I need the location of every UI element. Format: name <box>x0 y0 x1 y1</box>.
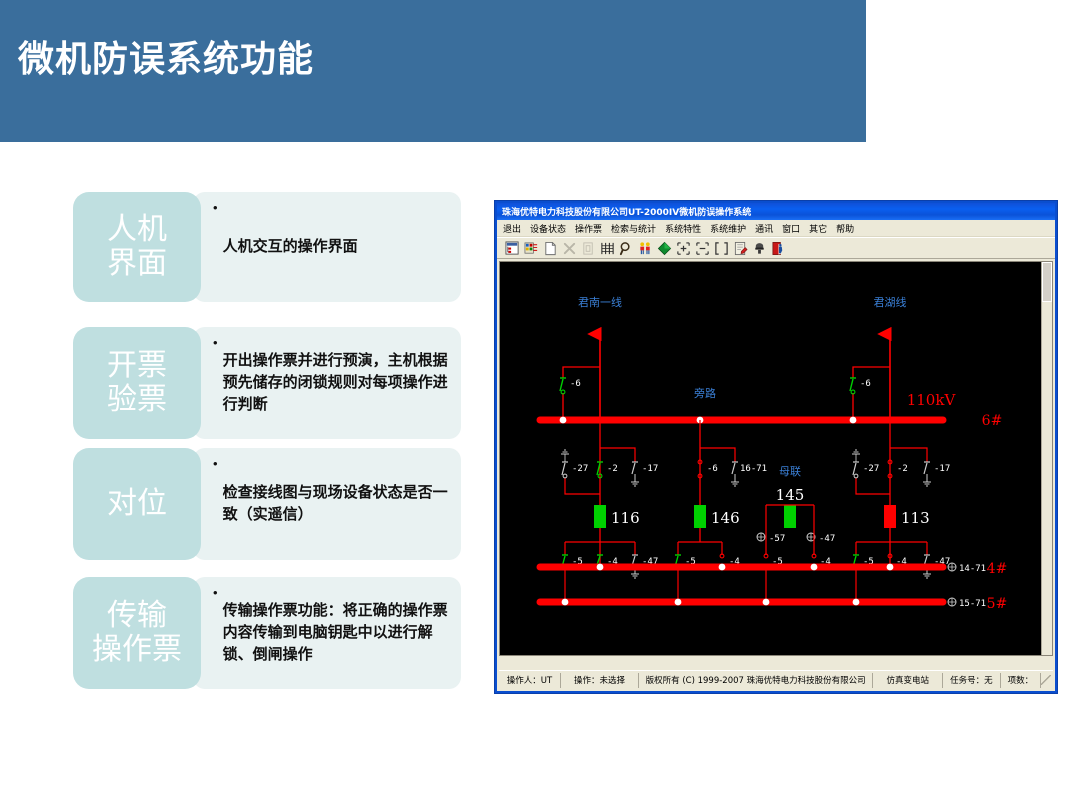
feature-row: 开票 验票 • 开出操作票并进行预演，主机根据预先储存的闭锁规则对每项操作进行判… <box>73 327 461 439</box>
breaker-label-116: 116 <box>611 509 640 527</box>
bay3-upper-tee <box>890 448 927 462</box>
menu-item-device-state[interactable]: 设备状态 <box>530 222 566 235</box>
toolbar <box>497 237 1055 259</box>
feature-key-renji-jiemian: 人机 界面 <box>73 192 201 302</box>
bullet-marker: • <box>213 583 218 603</box>
switch-label-top-right: -6 <box>860 379 871 389</box>
bay1-upper-tee-right <box>600 448 635 462</box>
bay2-bottom-tee <box>678 542 722 555</box>
ground-symbol-bay3-47 <box>923 574 931 578</box>
feature-row: 传输 操作票 • 传输操作票功能：将正确的操作票内容传输到电脑钥匙中以进行解锁、… <box>73 577 461 689</box>
ladder-icon[interactable] <box>599 240 615 256</box>
bay3-bottom-tee <box>856 542 927 555</box>
ground-symbol-bay1-17 <box>631 482 639 486</box>
switch-arm-bay1-27 <box>562 463 565 475</box>
feature-value: • 开出操作票并进行预演，主机根据预先储存的闭锁规则对每项操作进行判断 <box>193 327 461 439</box>
bay3-lower-tee-left <box>856 478 890 494</box>
menu-item-window[interactable]: 窗口 <box>782 222 800 235</box>
breaker-145 <box>784 505 796 528</box>
feature-key-line: 验票 <box>107 383 167 417</box>
tee-left-top <box>563 367 600 378</box>
bus-switch-label-5: 15-71 <box>959 599 986 609</box>
feature-text: 检查接线图与现场设备状态是否一致（实遥信） <box>223 482 451 526</box>
switch-label-tie-47: -47 <box>819 534 835 544</box>
two-person-icon[interactable] <box>637 240 653 256</box>
key-device-icon[interactable] <box>751 240 767 256</box>
window-titlebar[interactable]: 珠海优特电力科技股份有限公司UT-2000IV微机防误操作系统 <box>497 203 1055 220</box>
green-book-icon[interactable] <box>656 240 672 256</box>
search-icon[interactable] <box>618 240 634 256</box>
menu-bar: 退出 设备状态 操作票 检索与统计 系统特性 系统维护 通讯 窗口 其它 帮助 <box>497 220 1055 237</box>
feature-text: 人机交互的操作界面 <box>223 236 358 258</box>
bus-name-6: 6# <box>982 413 1003 429</box>
feature-value: • 人机交互的操作界面 <box>193 192 461 302</box>
bay2-upper-tee <box>700 448 735 462</box>
switch-label-bay3-2: -2 <box>897 464 908 474</box>
edit-note-icon[interactable] <box>732 240 748 256</box>
feature-key-line: 对位 <box>107 487 167 521</box>
feature-key-duiwei: 对位 <box>73 448 201 560</box>
feature-text: 开出操作票并进行预演，主机根据预先储存的闭锁规则对每项操作进行判断 <box>223 350 451 415</box>
bullet-marker: • <box>213 333 218 353</box>
one-line-diagram-canvas[interactable]: 君南一线 旁路 君湖线 母联 <box>499 261 1053 656</box>
status-operation: 操作：未选择 <box>561 673 639 688</box>
feature-key-chuanshu-caozuopiao: 传输 操作票 <box>73 577 201 689</box>
switch-label-bay2-1671: 16-71 <box>740 464 767 474</box>
status-item-count: 项数： <box>1001 673 1041 688</box>
switch-label-bay1-2: -2 <box>607 464 618 474</box>
bus-node <box>850 417 857 424</box>
feature-text: 传输操作票功能：将正确的操作票内容传输到电脑钥匙中以进行解锁、倒闸操作 <box>223 600 451 665</box>
station-tree-icon[interactable] <box>504 240 520 256</box>
new-ticket-icon[interactable] <box>542 240 558 256</box>
breaker-label-146: 146 <box>711 509 740 527</box>
tee-right-top <box>853 367 890 378</box>
ground-symbol-bay3-27 <box>852 450 860 454</box>
switch-arm-bay3-27 <box>853 463 856 475</box>
zoom-out-icon[interactable] <box>675 240 691 256</box>
bus-node <box>811 564 818 571</box>
voltage-level-label: 110kV <box>907 391 957 409</box>
copy-icon[interactable] <box>580 240 596 256</box>
switch-pivot-bay1-27 <box>563 474 567 478</box>
menu-item-search-stats[interactable]: 检索与统计 <box>611 222 656 235</box>
breaker-113 <box>884 505 896 528</box>
switch-arm-bay3-17 <box>924 463 927 474</box>
fit-window-icon[interactable] <box>713 240 729 256</box>
feature-key-line: 界面 <box>107 247 167 281</box>
menu-item-ticket[interactable]: 操作票 <box>575 222 602 235</box>
feature-value: • 检查接线图与现场设备状态是否一致（实遥信） <box>193 448 461 560</box>
bus-node <box>675 599 682 606</box>
bus-node <box>719 564 726 571</box>
bus-node <box>763 599 770 606</box>
bus-name-4: 4# <box>987 561 1008 577</box>
breaker-label-113: 113 <box>901 509 930 527</box>
slide-root: 微机防误系统功能 人机 界面 • 人机交互的操作界面 开票 验票 • 开出操作票… <box>0 0 1080 810</box>
breaker-116 <box>594 505 606 528</box>
bus-node <box>597 564 604 571</box>
menu-item-help[interactable]: 帮助 <box>836 222 854 235</box>
feeder-label-right: 君湖线 <box>874 295 907 309</box>
resize-grip-icon[interactable] <box>1041 675 1051 685</box>
vertical-scrollbar[interactable] <box>1041 262 1052 655</box>
menu-item-system-maint[interactable]: 系统维护 <box>710 222 746 235</box>
ground-symbol-bay2-1671 <box>731 482 739 486</box>
switch-arm-top-right <box>850 379 853 391</box>
application-window: 珠海优特电力科技股份有限公司UT-2000IV微机防误操作系统 退出 设备状态 … <box>495 201 1057 693</box>
bus-node <box>560 417 567 424</box>
feature-value: • 传输操作票功能：将正确的操作票内容传输到电脑钥匙中以进行解锁、倒闸操作 <box>193 577 461 689</box>
bus-node <box>562 599 569 606</box>
switch-label-bay3-27: -27 <box>863 464 879 474</box>
one-line-diagram[interactable]: 君南一线 旁路 君湖线 母联 <box>500 262 1045 656</box>
feature-row: 对位 • 检查接线图与现场设备状态是否一致（实遥信） <box>73 448 461 560</box>
feature-key-kaipiao-yanpiao: 开票 验票 <box>73 327 201 439</box>
switch-label-bay1-17: -17 <box>642 464 658 474</box>
exit-door-icon[interactable] <box>770 240 786 256</box>
switch-pivot-bay3-27 <box>854 474 858 478</box>
switch-label-bay3-17: -17 <box>934 464 950 474</box>
menu-item-system-props[interactable]: 系统特性 <box>665 222 701 235</box>
delete-icon[interactable] <box>561 240 577 256</box>
switch-label-bay1-27: -27 <box>572 464 588 474</box>
feature-key-line: 传输 <box>107 599 167 633</box>
bullet-marker: • <box>213 198 218 218</box>
switch-arm-bay2-1671 <box>732 463 735 474</box>
feature-list: 人机 界面 • 人机交互的操作界面 开票 验票 • 开出操作票并进行预演，主机根… <box>0 0 480 810</box>
feeder-label-bypass: 旁路 <box>694 386 716 400</box>
feature-key-line: 人机 <box>107 213 167 247</box>
feature-row: 人机 界面 • 人机交互的操作界面 <box>73 192 461 302</box>
bus-switch-label-4: 14-71 <box>959 564 986 574</box>
switch-label-bay2-6: -6 <box>707 464 718 474</box>
status-bar: 操作人：UT 操作：未选择 版权所有 (C) 1999-2007 珠海优特电力科… <box>499 670 1053 689</box>
bus-name-5: 5# <box>987 596 1008 612</box>
menu-item-comm[interactable]: 通讯 <box>755 222 773 235</box>
switch-arm-top-left <box>560 379 563 391</box>
equipment-status-icon[interactable] <box>523 240 539 256</box>
breaker-146 <box>694 505 706 528</box>
ground-symbol-bay3-17 <box>923 482 931 486</box>
switch-arm-bay1-17 <box>632 463 635 474</box>
status-station: 仿真变电站 <box>873 673 943 688</box>
status-copyright: 版权所有 (C) 1999-2007 珠海优特电力科技股份有限公司 <box>639 673 873 688</box>
tie-label: 母联 <box>779 465 801 478</box>
breaker-label-145: 145 <box>776 486 805 504</box>
bus-node <box>887 564 894 571</box>
menu-item-exit[interactable]: 退出 <box>503 222 521 235</box>
switch-label-top-left: -6 <box>570 379 581 389</box>
zoom-in-icon[interactable] <box>694 240 710 256</box>
bay1-lower-tee-left <box>565 478 600 494</box>
bus-node <box>853 599 860 606</box>
window-title: 珠海优特电力科技股份有限公司UT-2000IV微机防误操作系统 <box>502 205 751 218</box>
feature-key-line: 开票 <box>107 349 167 383</box>
feature-key-line: 操作票 <box>92 633 182 667</box>
feeder-label-left: 君南一线 <box>578 295 622 309</box>
status-operator: 操作人：UT <box>499 673 561 688</box>
menu-item-other[interactable]: 其它 <box>809 222 827 235</box>
ground-symbol-bay1-27 <box>561 450 569 454</box>
status-task-no: 任务号：无 <box>943 673 1000 688</box>
bullet-marker: • <box>213 454 218 474</box>
ground-symbol-bay1-47 <box>631 574 639 578</box>
switch-label-tie-57: -57 <box>769 534 785 544</box>
scrollbar-thumb[interactable] <box>1042 262 1052 302</box>
